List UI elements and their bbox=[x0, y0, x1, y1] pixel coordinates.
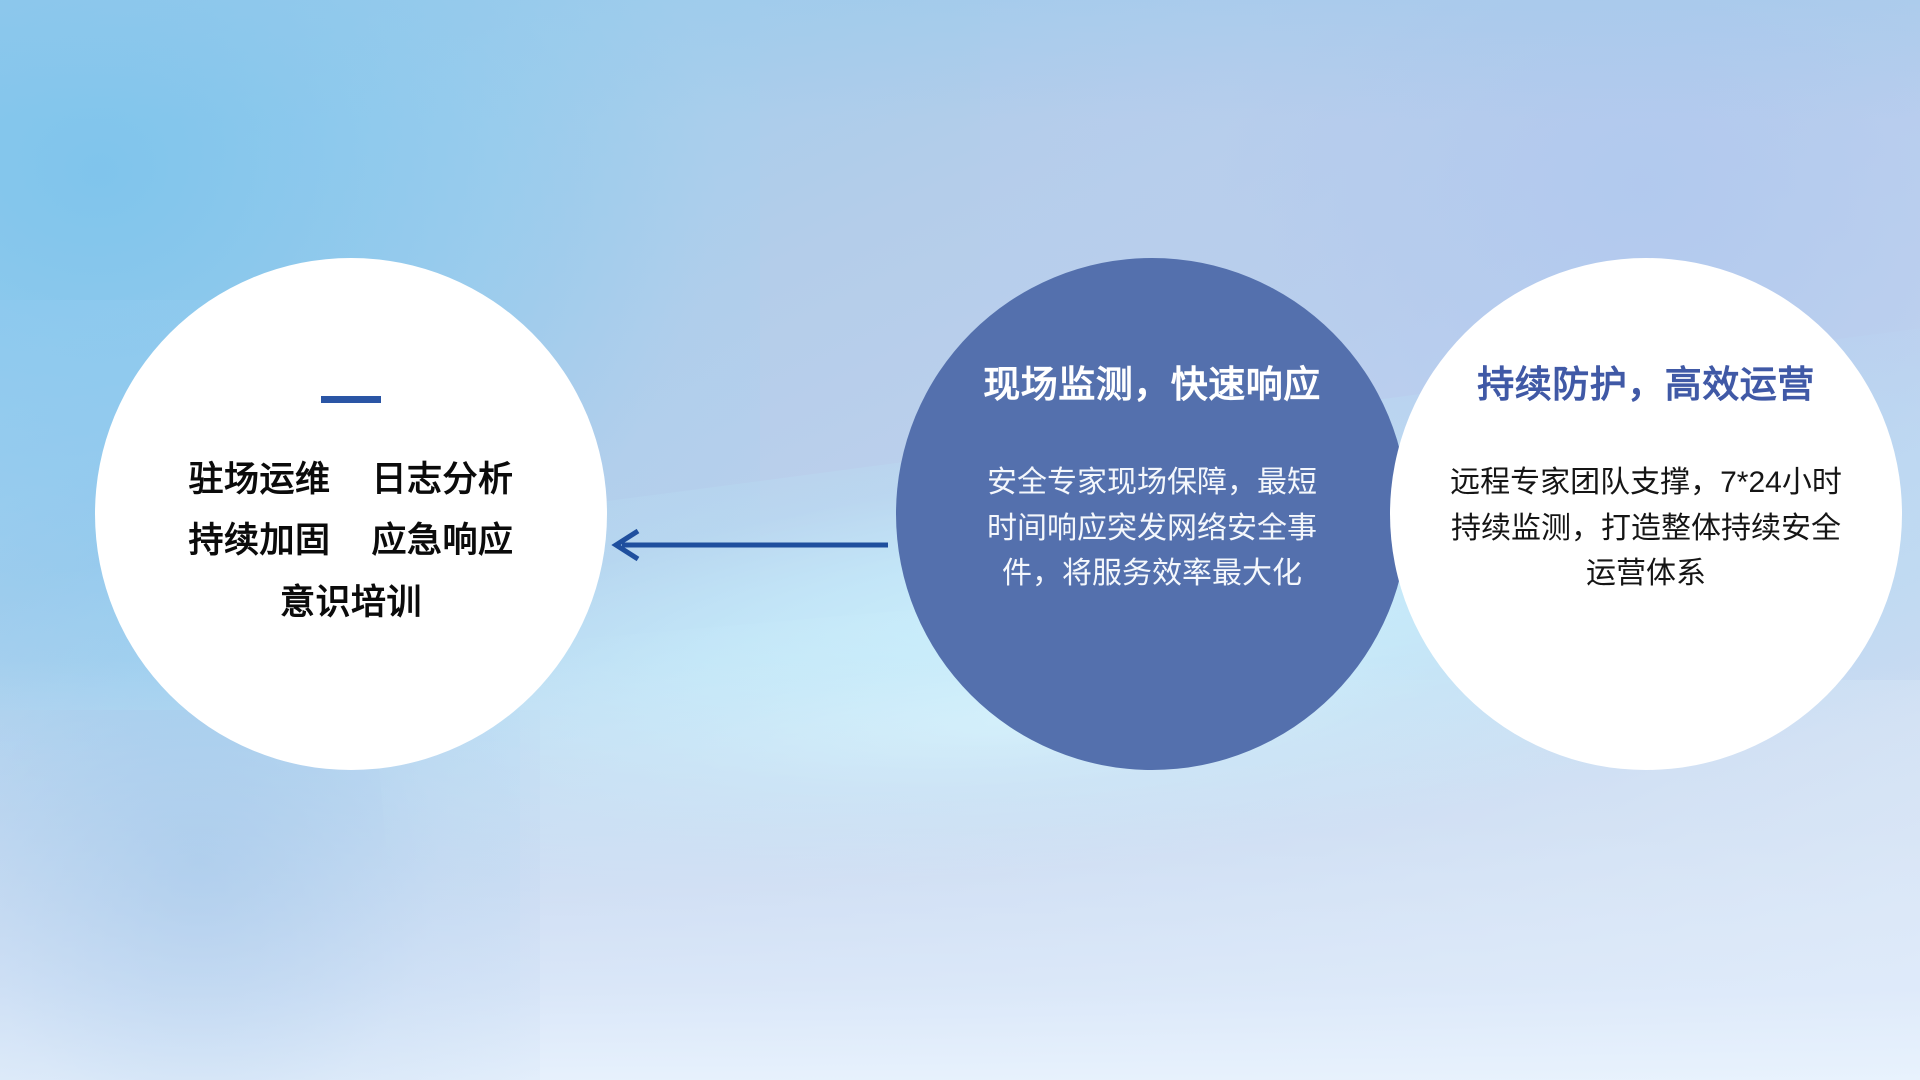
left-arrow-icon bbox=[600, 520, 890, 570]
capabilities-keyword-list: 驻场运维 日志分析 持续加固 应急响应 意识培训 bbox=[189, 449, 514, 633]
capabilities-keyword-row: 持续加固 应急响应 bbox=[189, 510, 514, 571]
flow-arrow bbox=[600, 520, 890, 570]
three-circle-diagram: 驻场运维 日志分析 持续加固 应急响应 意识培训 现场监测，快速响应 安全专家现… bbox=[0, 0, 1920, 1080]
onsite-monitoring-title: 现场监测，快速响应 bbox=[983, 354, 1321, 408]
onsite-monitoring-circle[interactable]: 现场监测，快速响应 安全专家现场保障，最短时间响应突发网络安全事件，将服务效率最… bbox=[896, 258, 1408, 770]
onsite-monitoring-body: 安全专家现场保障，最短时间响应突发网络安全事件，将服务效率最大化 bbox=[987, 460, 1317, 597]
capabilities-keyword-row: 驻场运维 日志分析 bbox=[189, 449, 514, 510]
continuous-protection-body: 远程专家团队支撑，7*24小时持续监测，打造整体持续安全运营体系 bbox=[1446, 460, 1846, 597]
capabilities-keyword-row: 意识培训 bbox=[189, 572, 514, 633]
continuous-protection-title: 持续防护，高效运营 bbox=[1477, 354, 1815, 408]
capabilities-circle[interactable]: 驻场运维 日志分析 持续加固 应急响应 意识培训 bbox=[95, 258, 607, 770]
continuous-protection-circle[interactable]: 持续防护，高效运营 远程专家团队支撑，7*24小时持续监测，打造整体持续安全运营… bbox=[1390, 258, 1902, 770]
divider-dash-icon bbox=[321, 396, 381, 403]
